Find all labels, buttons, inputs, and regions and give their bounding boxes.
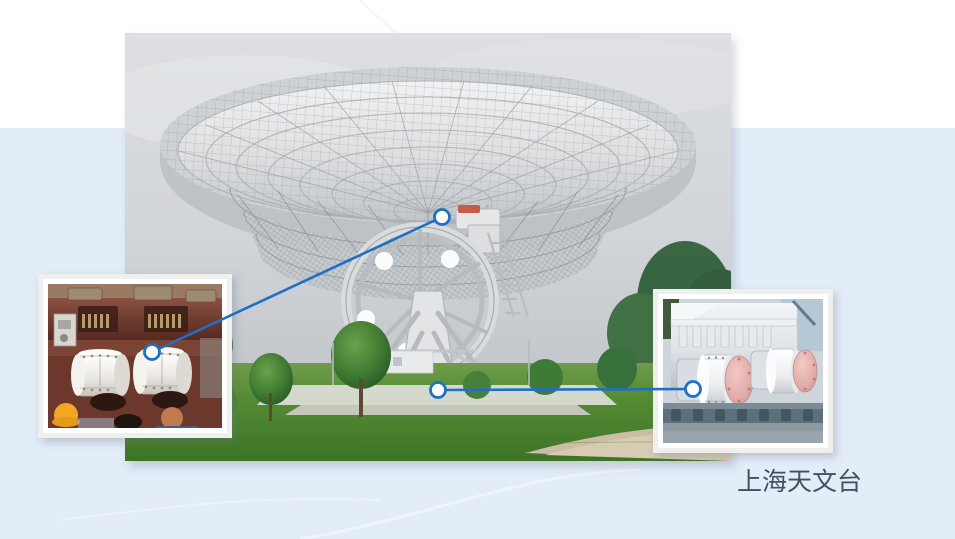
inset-right-illustration [663,299,823,443]
slide-canvas: 上海天文台 [0,0,955,539]
inset-left-illustration [48,284,222,428]
inset-right-mat [658,294,828,448]
inset-right-photo-frame [653,289,833,453]
inset-right-photo [663,299,823,443]
inset-left-photo-frame [38,274,232,438]
photo-caption: 上海天文台 [737,468,862,498]
inset-left-mat [43,279,227,433]
inset-left-photo [48,284,222,428]
